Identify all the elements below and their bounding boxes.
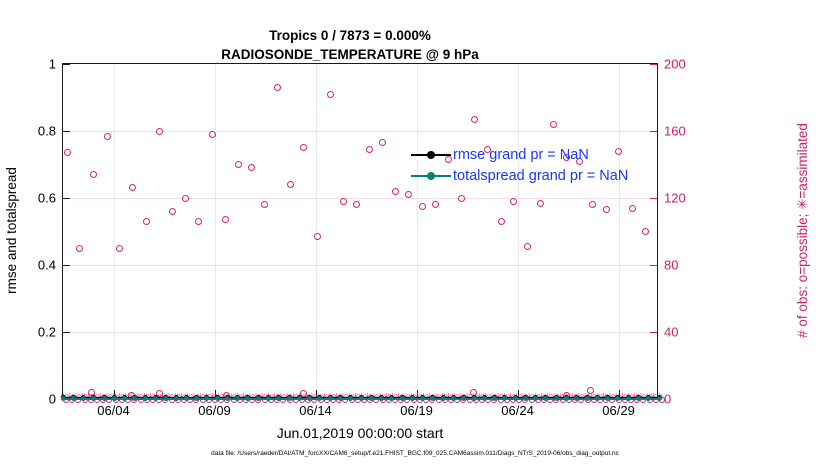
obs-possible-marker (129, 184, 136, 191)
gridline-vertical (619, 64, 620, 397)
obs-possible-marker (209, 131, 216, 138)
y-axis-label-right: # of obs: o=possible; ✳=assimilated (795, 63, 813, 398)
obs-possible-marker (419, 203, 426, 210)
obs-possible-marker (589, 201, 596, 208)
obs-possible-marker (458, 195, 465, 202)
y-tick-left (63, 332, 70, 333)
y-tick-label-left: 0.2 (38, 325, 56, 340)
y-tick-label-left: 0 (49, 392, 56, 407)
gridline-horizontal (63, 265, 657, 266)
gridline-vertical (114, 64, 115, 397)
obs-possible-marker (498, 218, 505, 225)
y-tick-label-right: 160 (664, 124, 686, 139)
y-tick-label-right: 0 (664, 392, 671, 407)
totalspread-marker (585, 396, 590, 401)
legend: rmse grand pr = NaN totalspread grand pr… (411, 143, 628, 187)
obs-possible-marker (432, 201, 439, 208)
obs-possible-marker (182, 195, 189, 202)
y-tick-right (650, 198, 657, 199)
y-axis-label-left: rmse and totalspread (4, 63, 22, 398)
data-file-note: data file: /Users/raeder/DAI/ATM_forcXX/… (0, 450, 830, 457)
totalspread-marker (513, 396, 518, 401)
totalspread-marker (215, 396, 220, 401)
obs-possible-marker (353, 201, 360, 208)
obs-possible-marker (300, 144, 307, 151)
legend-label-rmse: rmse grand pr = NaN (453, 147, 589, 163)
y-tick-left (63, 198, 70, 199)
y-tick-label-left: 0.8 (38, 124, 56, 139)
totalspread-marker (102, 396, 107, 401)
y-tick-right (650, 265, 657, 266)
x-tick-label: 06/19 (400, 403, 433, 418)
obs-possible-marker (471, 116, 478, 123)
totalspread-marker (359, 396, 364, 401)
totalspread-marker (626, 396, 631, 401)
chart-title: Tropics 0 / 7873 = 0.000% RADIOSONDE_TEM… (0, 26, 700, 64)
obs-possible-marker (222, 216, 229, 223)
y-tick-label-right: 80 (664, 258, 678, 273)
y-tick-label-right: 200 (664, 57, 686, 72)
obs-possible-marker (104, 133, 111, 140)
legend-item-totalspread[interactable]: totalspread grand pr = NaN (411, 165, 628, 186)
gridline-vertical (518, 64, 519, 397)
gridline-horizontal (63, 131, 657, 132)
gridline-vertical (316, 64, 317, 397)
gridline-vertical (215, 64, 216, 397)
x-tick-label: 06/24 (501, 403, 534, 418)
obs-possible-marker (366, 146, 373, 153)
obs-possible-marker (510, 198, 517, 205)
totalspread-marker (61, 396, 66, 401)
obs-possible-marker (195, 218, 202, 225)
obs-possible-marker (116, 245, 123, 252)
y-tick-right (650, 332, 657, 333)
obs-possible-marker (340, 198, 347, 205)
totalspread-marker (472, 396, 477, 401)
y-tick-label-right: 40 (664, 325, 678, 340)
y-tick-left (63, 265, 70, 266)
y-tick-label-right: 120 (664, 191, 686, 206)
totalspread-marker (174, 396, 179, 401)
x-tick-label: 06/09 (198, 403, 231, 418)
obs-possible-marker (550, 121, 557, 128)
obs-possible-marker (537, 200, 544, 207)
obs-possible-marker (169, 208, 176, 215)
chart-title-line-1: Tropics 0 / 7873 = 0.000% (0, 26, 700, 45)
totalspread-marker (657, 396, 662, 401)
y-tick-label-left: 0.4 (38, 258, 56, 273)
obs-possible-marker (64, 149, 71, 156)
obs-possible-marker (143, 218, 150, 225)
obs-possible-marker (235, 161, 242, 168)
y-tick-label-left: 0.6 (38, 191, 56, 206)
y-tick-left (63, 131, 70, 132)
obs-possible-marker (587, 387, 594, 394)
chart-title-line-2: RADIOSONDE_TEMPERATURE @ 9 hPa (0, 45, 700, 64)
gridline-vertical (417, 64, 418, 397)
totalspread-marker (400, 396, 405, 401)
obs-possible-marker (642, 228, 649, 235)
obs-possible-marker (90, 171, 97, 178)
obs-possible-marker (274, 84, 281, 91)
x-tick-label: 06/04 (97, 403, 130, 418)
legend-swatch-rmse (411, 148, 451, 162)
x-tick-label: 06/29 (602, 403, 635, 418)
obs-possible-marker (603, 206, 610, 213)
y-tick-right (650, 131, 657, 132)
obs-possible-marker (629, 205, 636, 212)
obs-possible-marker (287, 181, 294, 188)
x-axis-label: Jun.01,2019 00:00:00 start (62, 425, 658, 441)
legend-swatch-totalspread (411, 169, 451, 183)
gridline-horizontal (63, 332, 657, 333)
y-tick-label-left: 1 (49, 57, 56, 72)
obs-possible-marker (156, 128, 163, 135)
obs-possible-marker (524, 243, 531, 250)
obs-possible-marker (261, 201, 268, 208)
obs-possible-marker (392, 188, 399, 195)
totalspread-marker (287, 396, 292, 401)
obs-possible-marker (76, 245, 83, 252)
x-tick-label: 06/14 (299, 403, 332, 418)
y-tick-left (63, 64, 70, 65)
obs-possible-marker (379, 139, 386, 146)
plot-area: 00.20.40.60.810408012016020006/0406/0906… (62, 63, 658, 398)
totalspread-marker (328, 396, 333, 401)
obs-possible-marker (248, 164, 255, 171)
obs-possible-marker (327, 91, 334, 98)
gridline-horizontal (63, 198, 657, 199)
y-tick-right (650, 64, 657, 65)
obs-possible-marker (314, 233, 321, 240)
legend-label-totalspread: totalspread grand pr = NaN (453, 168, 628, 184)
legend-item-rmse[interactable]: rmse grand pr = NaN (411, 144, 628, 165)
